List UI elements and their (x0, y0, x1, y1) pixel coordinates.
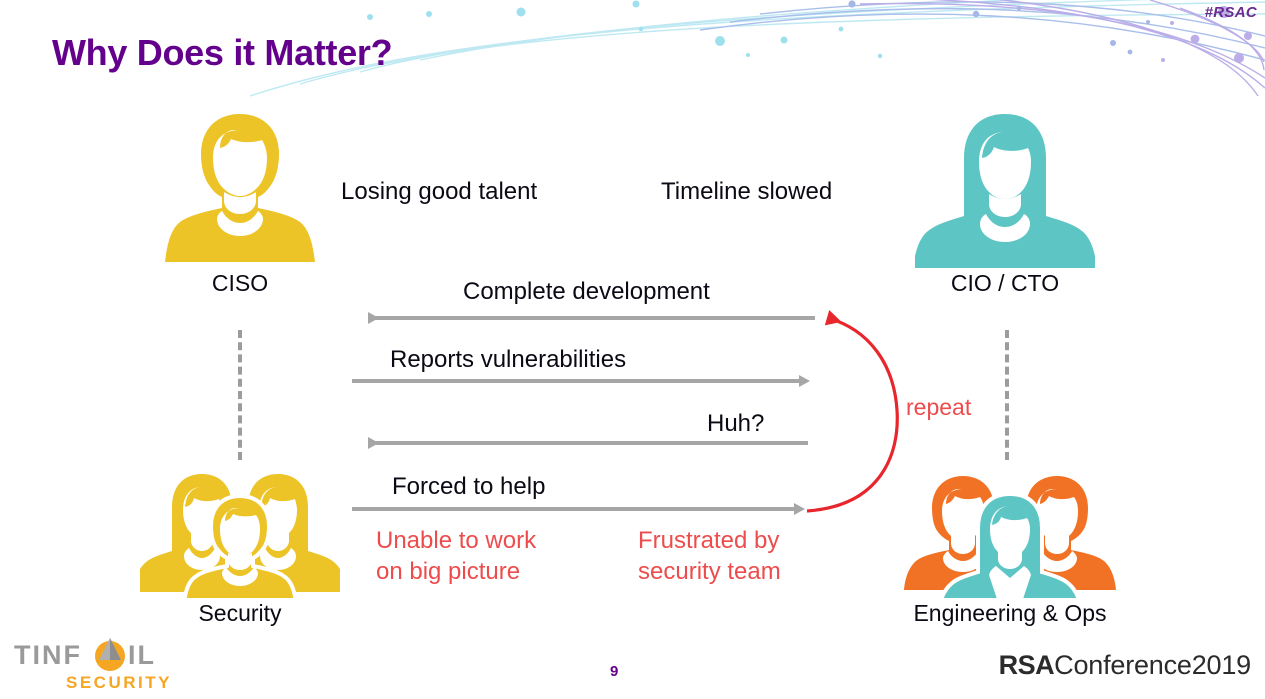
page-number: 9 (610, 663, 618, 680)
rsa-conference-logo: RSAConference2019 (999, 650, 1251, 681)
label-complete-development: Complete development (463, 278, 710, 306)
actor-label-cio-cto: CIO / CTO (915, 270, 1095, 297)
svg-text:IL: IL (128, 640, 156, 670)
rsa-logo-bold: RSA (999, 650, 1055, 680)
label-frustrated-line-2: security team (638, 557, 781, 588)
slide: #RSAC Why Does it Matter? CISO (0, 0, 1265, 699)
label-timeline-slowed: Timeline slowed (661, 178, 832, 206)
label-unable-line-2: on big picture (376, 557, 536, 588)
people-group-icon (885, 468, 1135, 598)
actor-label-engineering-ops: Engineering & Ops (885, 600, 1135, 627)
label-repeat: repeat (906, 394, 971, 421)
label-forced-to-help: Forced to help (392, 473, 545, 501)
tinfoil-logo-icon: TINF IL SECURITY (8, 636, 188, 696)
person-female-icon (915, 108, 1095, 268)
people-group-icon (140, 468, 340, 598)
svg-text:TINF: TINF (14, 640, 82, 670)
repeat-loop-arrow (807, 318, 897, 511)
person-male-icon (150, 108, 330, 268)
actor-engineering-ops: Engineering & Ops (885, 468, 1135, 627)
tinfoil-security-logo: TINF IL SECURITY (8, 636, 188, 699)
actor-cio-cto: CIO / CTO (915, 108, 1095, 297)
lifeline-right (1005, 330, 1009, 460)
rsac-hashtag: #RSAC (1205, 4, 1257, 21)
actor-ciso: CISO (150, 108, 330, 297)
actor-label-security: Security (140, 600, 340, 627)
label-losing-good-talent: Losing good talent (341, 178, 537, 206)
svg-text:SECURITY: SECURITY (66, 673, 172, 692)
label-reports-vulnerabilities: Reports vulnerabilities (390, 346, 626, 374)
rsa-logo-light: Conference2019 (1054, 650, 1251, 680)
actor-label-ciso: CISO (150, 270, 330, 297)
actor-security: Security (140, 468, 340, 627)
label-frustrated-line-1: Frustrated by (638, 526, 781, 557)
label-frustrated-by-security-team: Frustrated by security team (638, 526, 781, 587)
label-huh: Huh? (707, 410, 764, 438)
label-unable-to-work: Unable to work on big picture (376, 526, 536, 587)
label-unable-line-1: Unable to work (376, 526, 536, 557)
lifeline-left (238, 330, 242, 460)
page-title: Why Does it Matter? (52, 32, 392, 74)
